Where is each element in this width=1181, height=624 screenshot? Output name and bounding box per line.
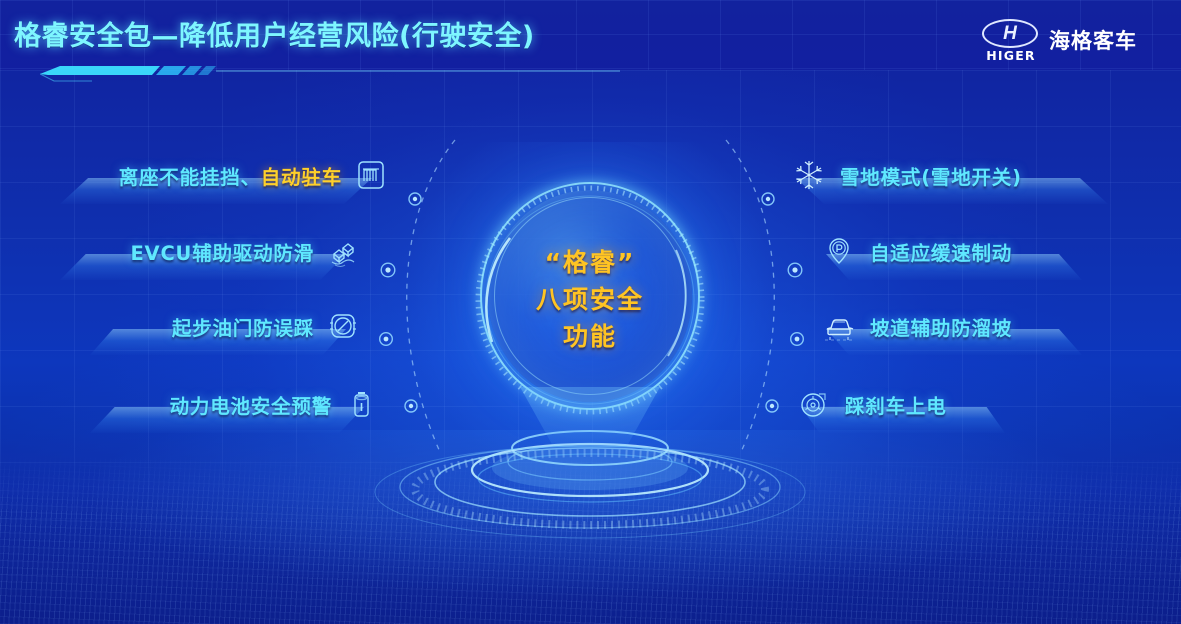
feature-label-primary: 踩刹车上电 xyxy=(845,390,947,419)
higer-emblem-icon: H HIGER xyxy=(982,17,1040,63)
no-pedal-icon xyxy=(324,307,362,345)
feature-item-pedal-misstep[interactable]: 起步油门防误踩 xyxy=(90,303,362,349)
feature-label-accent: 自动驻车 xyxy=(261,161,342,190)
feature-label-primary: 离座不能挂挡、 xyxy=(119,161,261,190)
car-slope-icon xyxy=(820,307,858,345)
feature-label-primary: 动力电池安全预警 xyxy=(170,390,332,419)
feature-item-auto-park[interactable]: 离座不能挂挡、 自动驻车 xyxy=(60,152,390,198)
feature-label-primary: 雪地模式(雪地开关) xyxy=(840,161,1022,190)
feature-item-hill-hold[interactable]: 坡道辅助防溜坡 xyxy=(820,303,1092,349)
feature-label-primary: 起步油门防误踩 xyxy=(172,312,314,341)
feature-item-adaptive-retarder[interactable]: 自适应缓速制动 xyxy=(820,228,1092,274)
brand-logo: H HIGER 海格客车 xyxy=(982,16,1137,64)
gear-shift-icon xyxy=(352,156,390,194)
feature-label-primary: 自适应缓速制动 xyxy=(870,237,1012,266)
feature-item-brake-to-power[interactable]: 踩刹车上电 xyxy=(795,381,1013,427)
feature-label-primary: 坡道辅助防溜坡 xyxy=(870,312,1012,341)
brand-chinese-name: 海格客车 xyxy=(1049,25,1137,55)
snowflake-icon xyxy=(790,156,828,194)
feature-label-primary: EVCU辅助驱动防滑 xyxy=(130,237,314,266)
core-line-1: “格睿” xyxy=(470,244,710,281)
core-line-3: 功能 xyxy=(470,318,710,355)
page-title: 格睿安全包—降低用户经营风险(行驶安全) xyxy=(14,14,535,53)
feature-item-snow-mode[interactable]: 雪地模式(雪地开关) xyxy=(790,152,1120,198)
brand-latin-name: HIGER xyxy=(983,48,1039,63)
brake-disc-icon xyxy=(795,385,833,423)
center-core: “格睿” 八项安全 功能 xyxy=(470,182,710,432)
battery-icon xyxy=(342,385,380,423)
feature-item-evcu-antislip[interactable]: EVCU辅助驱动防滑 xyxy=(60,228,362,274)
feature-item-battery-warning[interactable]: 动力电池安全预警 xyxy=(90,381,380,427)
emblem-letter: H xyxy=(999,23,1021,44)
ice-blocks-icon xyxy=(324,232,362,270)
slide-stage: 格睿安全包—降低用户经营风险(行驶安全) H HIGER 海格客车 “格睿” xyxy=(0,0,1181,624)
tech-accent-line xyxy=(40,62,620,84)
core-line-2: 八项安全 xyxy=(470,281,710,318)
parking-pin-icon xyxy=(820,232,858,270)
core-text-block: “格睿” 八项安全 功能 xyxy=(470,244,710,355)
